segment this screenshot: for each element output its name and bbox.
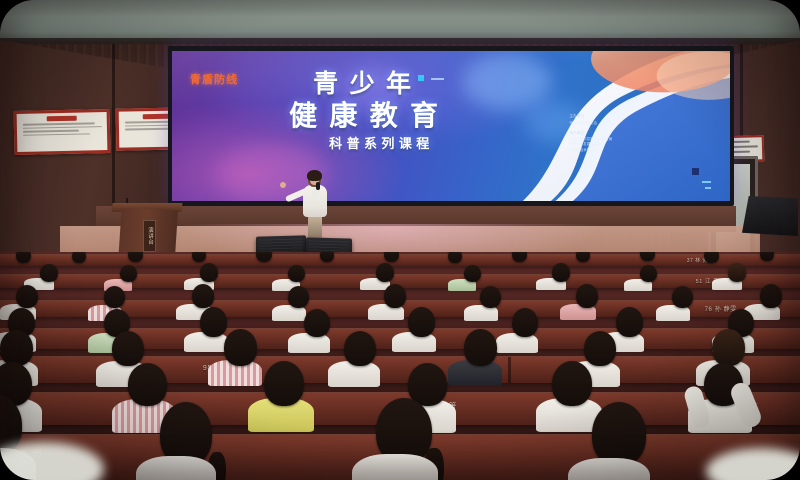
corner-mark bbox=[702, 181, 711, 183]
audience-shoulders bbox=[568, 458, 650, 480]
audience-head bbox=[552, 361, 592, 406]
row-divider bbox=[508, 357, 511, 383]
corner-mark bbox=[705, 187, 711, 189]
audience-head bbox=[16, 285, 38, 308]
audience-head bbox=[72, 252, 86, 263]
auditorium-photo: 青盾防线 青 少 年 健 康 教 育 科普系列课程 主办单位： 市卫生健康委员会… bbox=[0, 0, 800, 480]
audience-head bbox=[104, 286, 125, 308]
title-subtitle: 科普系列课程 bbox=[329, 137, 440, 150]
audience-shoulders bbox=[352, 454, 438, 480]
title-line-2: 健 康 教 育 bbox=[289, 102, 440, 130]
credit-group: 承办单位： 市疾病预防控制中心 教育局 市青少年发展基金会 市科学技术协会 bbox=[569, 131, 699, 153]
audience-head bbox=[760, 284, 782, 308]
audience-head bbox=[120, 265, 137, 282]
audience-head bbox=[16, 252, 31, 263]
audience-head bbox=[704, 252, 719, 263]
audience-head bbox=[728, 263, 746, 282]
poster-header bbox=[46, 116, 77, 122]
seat-row: 37 林 佩君 bbox=[0, 254, 800, 266]
brand-logo: 青盾防线 bbox=[190, 71, 238, 87]
presenter-legs bbox=[308, 215, 322, 239]
audience-shoulders bbox=[136, 456, 216, 480]
audience-head bbox=[408, 307, 435, 337]
audience-head bbox=[192, 284, 214, 308]
audience-seating: 37 林 佩君 51 江 荷 bbox=[0, 252, 800, 480]
audience-shoulders bbox=[496, 333, 538, 353]
audience-head bbox=[112, 331, 144, 366]
credit-heading: 主办单位： bbox=[569, 114, 699, 119]
audience-head bbox=[552, 263, 570, 282]
poster-text-line bbox=[23, 133, 90, 136]
handheld-microphone bbox=[316, 182, 320, 190]
audience-head bbox=[376, 263, 394, 282]
audience-head bbox=[448, 252, 462, 263]
audience-head bbox=[128, 363, 167, 406]
credit-line: 市科学技术协会 bbox=[569, 148, 699, 153]
presenter-hair bbox=[307, 170, 322, 181]
audience-head bbox=[288, 265, 305, 282]
poster-text-line bbox=[23, 122, 95, 125]
poster-text-line bbox=[23, 126, 102, 129]
audience-head bbox=[640, 265, 657, 282]
audience-head bbox=[264, 361, 304, 406]
screen-credits: 主办单位： 市卫生健康委员会 承办单位： 市疾病预防控制中心 教育局 市青少年发… bbox=[569, 114, 699, 158]
audience-head bbox=[672, 286, 693, 308]
credit-group: 主办单位： 市卫生健康委员会 bbox=[569, 114, 699, 126]
audience-head bbox=[464, 265, 481, 282]
corner-mark bbox=[692, 168, 699, 175]
audience-head bbox=[616, 307, 643, 337]
poster-text-line bbox=[23, 130, 79, 133]
audience-head bbox=[576, 284, 598, 308]
audience-head bbox=[712, 329, 745, 366]
credit-heading: 承办单位： bbox=[569, 131, 699, 136]
audience-shoulders bbox=[288, 333, 330, 353]
audience-head bbox=[480, 286, 501, 308]
side-speaker-cabinet bbox=[742, 196, 798, 236]
led-screen-bezel: 青盾防线 青 少 年 健 康 教 育 科普系列课程 主办单位： 市卫生健康委员会… bbox=[168, 46, 734, 206]
audience-head bbox=[0, 330, 33, 366]
led-screen: 青盾防线 青 少 年 健 康 教 育 科普系列课程 主办单位： 市卫生健康委员会… bbox=[172, 51, 730, 201]
presenter-hand bbox=[280, 182, 286, 188]
speaker-grill bbox=[259, 238, 303, 252]
lens-frame: 青盾防线 青 少 年 健 康 教 育 科普系列课程 主办单位： 市卫生健康委员会… bbox=[0, 0, 800, 480]
audience-head bbox=[384, 284, 406, 308]
podium-plaque: 演讲台 bbox=[143, 220, 156, 252]
wall-poster bbox=[14, 109, 111, 155]
audience-head bbox=[304, 309, 330, 337]
audience-head bbox=[512, 308, 538, 337]
audience-head bbox=[288, 286, 309, 308]
audience-head bbox=[200, 263, 218, 282]
audience-head bbox=[584, 331, 616, 366]
presenter bbox=[292, 170, 338, 240]
audience-head bbox=[224, 329, 257, 366]
audience-head bbox=[344, 331, 376, 366]
audience-head bbox=[200, 307, 227, 337]
audience-head bbox=[592, 402, 646, 466]
title-line-1: 青 少 年 bbox=[313, 72, 440, 97]
poster-header bbox=[143, 114, 168, 119]
audience-head bbox=[464, 329, 497, 366]
audience-head bbox=[40, 264, 58, 282]
credit-line: 市卫生健康委员会 bbox=[569, 121, 699, 126]
screen-title-block: 青 少 年 健 康 教 育 科普系列课程 bbox=[289, 72, 440, 150]
